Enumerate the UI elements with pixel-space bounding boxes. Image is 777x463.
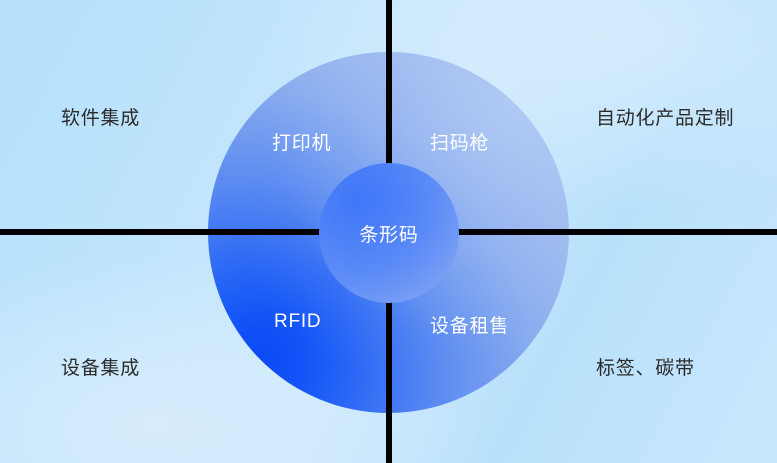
center-hub-label: 条形码 (359, 220, 418, 247)
center-hub-circle: 条形码 (319, 163, 459, 303)
ring-label-printer: 打印机 (272, 128, 331, 155)
ring-label-scanner: 扫码枪 (430, 128, 489, 155)
quadrant-infographic: 条形码 打印机 扫码枪 RFID 设备租售 软件集成 自动化产品定制 设备集成 … (0, 0, 777, 463)
corner-label-automation-customization: 自动化产品定制 (596, 103, 734, 130)
ring-label-rfid: RFID (274, 311, 321, 333)
ring-label-equipment-rental: 设备租售 (430, 311, 509, 338)
corner-label-software-integration: 软件集成 (61, 103, 140, 130)
corner-label-equipment-integration: 设备集成 (61, 353, 140, 380)
corner-label-labels-ribbons: 标签、碳带 (596, 353, 695, 380)
